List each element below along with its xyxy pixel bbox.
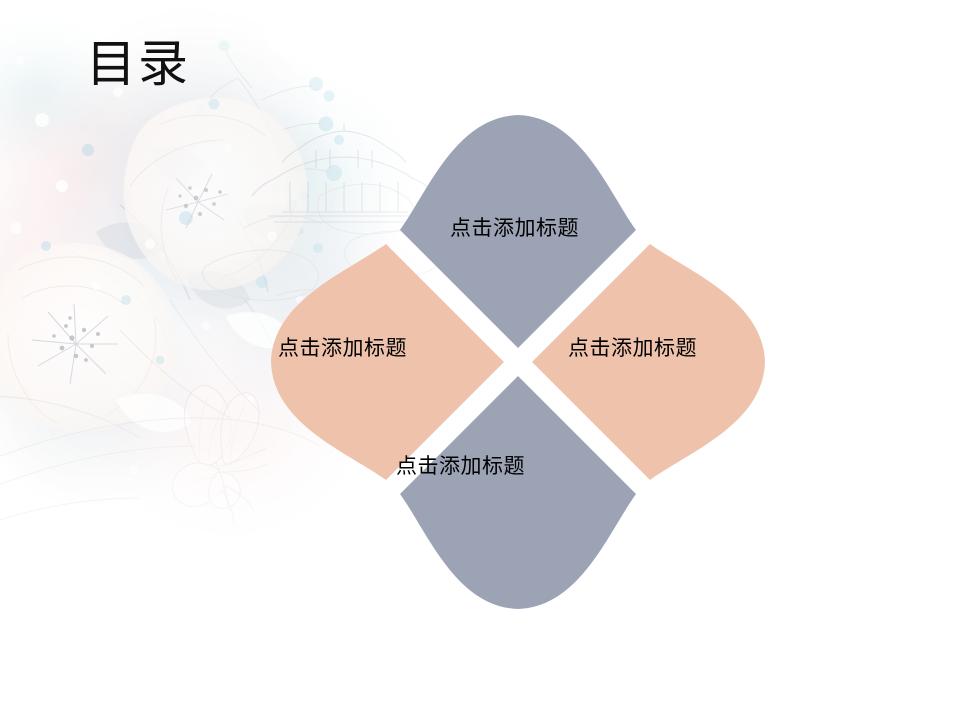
petal-label-top[interactable]: 点击添加标题	[450, 212, 579, 242]
flower-stamen	[52, 316, 100, 362]
slide-canvas: 目录 点击添加标题 点击添加标题 点击添加标题 点击添加标题	[0, 0, 960, 720]
butterfly-silhouette	[172, 386, 268, 526]
leaf-stems	[30, 175, 288, 400]
white-poppy-flower	[0, 243, 177, 432]
petal-label-bottom[interactable]: 点击添加标题	[396, 450, 525, 480]
petal-label-left[interactable]: 点击添加标题	[278, 332, 407, 362]
flower-stamen	[178, 186, 221, 216]
petal-label-right[interactable]: 点击添加标题	[568, 332, 697, 362]
four-petal-diagram: 点击添加标题 点击添加标题 点击添加标题 点击添加标题	[260, 95, 780, 615]
page-title: 目录	[86, 36, 190, 94]
